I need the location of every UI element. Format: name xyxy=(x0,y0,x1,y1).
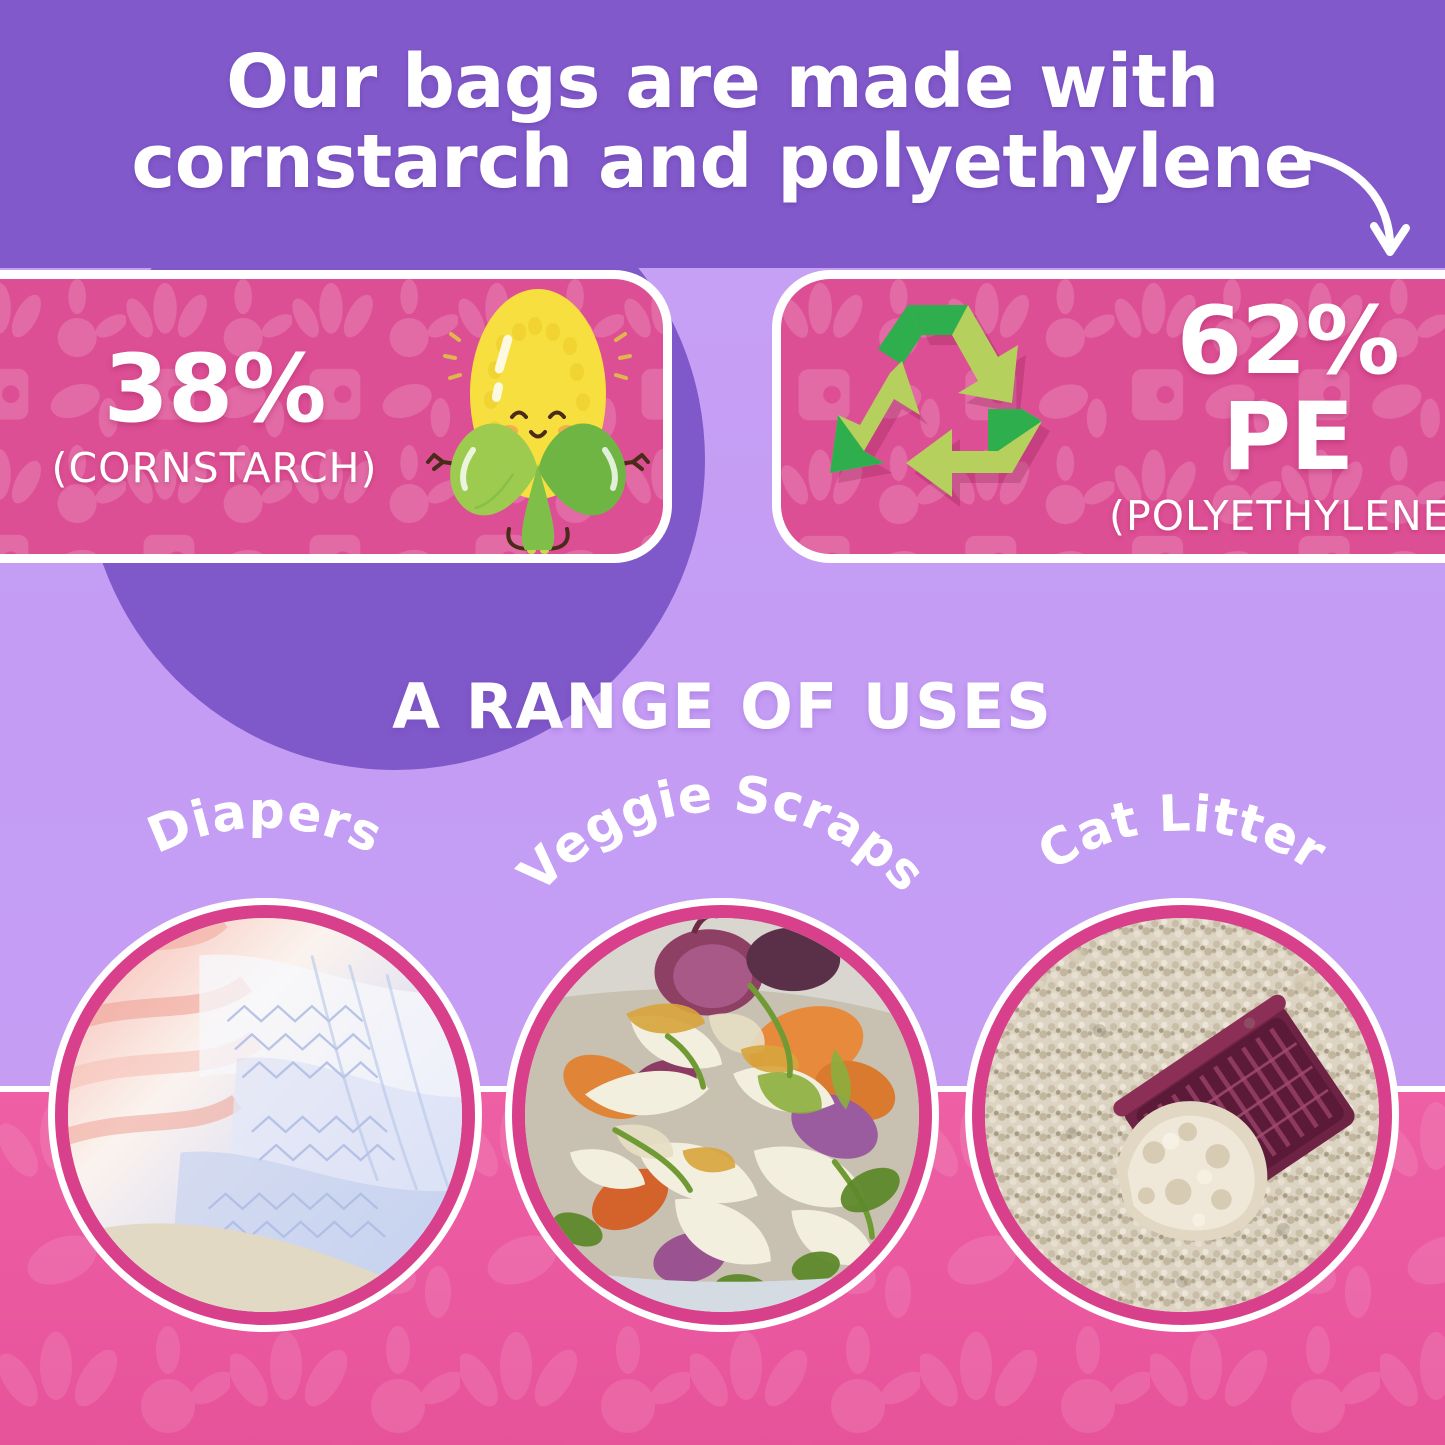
use-item-diapers-overlay: Diapers xyxy=(55,905,475,1325)
cornstarch-stat-card: 38% (CORNSTARCH) xyxy=(0,270,672,563)
cornstarch-stat-text: 38% (CORNSTARCH) xyxy=(36,342,393,492)
vegetable-scraps-photo-overlay xyxy=(525,918,919,1312)
use-image-cat-litter-overlay xyxy=(972,905,1392,1325)
uses-section-title: A RANGE OF USES xyxy=(0,672,1445,742)
infographic-canvas: Our bags are made with cornstarch and po… xyxy=(0,0,1445,1445)
polyethylene-stat-card: 62% PE (POLYETHYLENE) xyxy=(772,270,1445,563)
use-item-cat-litter-overlay: Cat Litter xyxy=(972,905,1392,1325)
curved-down-arrow-icon xyxy=(1290,140,1420,265)
meditating-corn-character-icon xyxy=(413,274,663,559)
polyethylene-percent: 62% PE xyxy=(1109,294,1445,486)
use-image-diapers-overlay xyxy=(55,905,475,1325)
recycle-symbol-icon xyxy=(816,299,1091,534)
cornstarch-percent: 38% xyxy=(36,342,393,438)
stack-of-disposable-diapers-photo-overlay xyxy=(68,918,462,1312)
page-title: Our bags are made with cornstarch and po… xyxy=(0,42,1445,202)
use-item-veggie-scraps-overlay: Veggie Scraps xyxy=(512,905,932,1325)
polyethylene-stat-text: 62% PE (POLYETHYLENE) xyxy=(1109,294,1445,540)
cat-litter-granules-photo-overlay xyxy=(985,918,1379,1312)
use-image-veggie-scraps-overlay xyxy=(512,905,932,1325)
polyethylene-material-label: (POLYETHYLENE) xyxy=(1109,492,1445,540)
page-title-line-2: cornstarch and polyethylene xyxy=(0,122,1445,202)
page-title-line-1: Our bags are made with xyxy=(0,42,1445,122)
cornstarch-material-label: (CORNSTARCH) xyxy=(36,444,393,492)
